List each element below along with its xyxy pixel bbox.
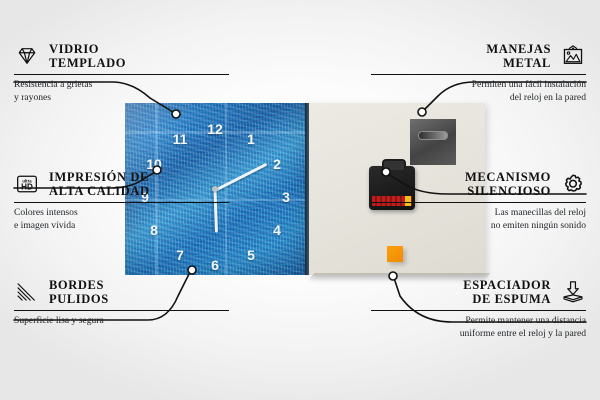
callout-description: Permiten una fácil instalación del reloj… — [371, 75, 586, 105]
callout-header: ultra HD IMPRESIÓN DE ALTA CALIDAD — [14, 170, 229, 202]
callout-title: VIDRIO TEMPLADO — [49, 42, 126, 71]
polished-edges-icon — [14, 279, 40, 305]
callout-description: Las manecillas del reloj no emiten ningú… — [371, 203, 586, 233]
foam-spacer-arrow-icon — [560, 279, 586, 305]
callout-mecanismo-silencioso: MECANISMO SILENCIOSO Las manecillas del … — [371, 170, 586, 233]
foam-spacer-part — [387, 246, 403, 262]
clock-numeral-2: 2 — [273, 157, 281, 171]
callout-title: IMPRESIÓN DE ALTA CALIDAD — [49, 170, 150, 199]
hanger-slot — [418, 131, 448, 140]
callout-title: ESPACIADOR DE ESPUMA — [463, 278, 551, 307]
face-grid-line — [125, 131, 305, 134]
clock-numeral-11: 11 — [173, 132, 188, 146]
callout-header: MANEJAS METAL — [371, 42, 586, 74]
picture-frame-hanger-icon — [560, 43, 586, 69]
mechanism-hook — [382, 159, 406, 170]
callout-title: MECANISMO SILENCIOSO — [465, 170, 551, 199]
metal-hanger-part — [410, 119, 456, 165]
infographic-canvas: 12 1 2 3 4 5 6 7 8 9 10 11 — [0, 0, 600, 400]
callout-header: BORDES PULIDOS — [14, 278, 229, 310]
clock-numeral-3: 3 — [282, 190, 290, 204]
callout-vidrio-templado: VIDRIO TEMPLADO Resistencia a grietas y … — [14, 42, 229, 105]
callout-manejas-metal: MANEJAS METAL Permiten una fácil instala… — [371, 42, 586, 105]
callout-impresion-alta-calidad: ultra HD IMPRESIÓN DE ALTA CALIDAD Color… — [14, 170, 229, 233]
ultra-hd-icon: ultra HD — [14, 171, 40, 197]
diamond-icon — [14, 43, 40, 69]
clock-numeral-1: 1 — [247, 132, 255, 146]
clock-numeral-6: 6 — [211, 258, 219, 272]
callout-header: MECANISMO SILENCIOSO — [371, 170, 586, 202]
callout-description: Superficie lisa y segura — [14, 311, 229, 328]
callout-description: Colores intensos e imagen vívida — [14, 203, 229, 233]
callout-description: Resistencia a grietas y rayones — [14, 75, 229, 105]
clock-numeral-7: 7 — [176, 248, 184, 262]
clock-numeral-12: 12 — [207, 122, 223, 136]
callout-espaciador-espuma: ESPACIADOR DE ESPUMA Permite mantener un… — [371, 278, 586, 341]
callout-header: VIDRIO TEMPLADO — [14, 42, 229, 74]
callout-bordes-pulidos: BORDES PULIDOS Superficie lisa y segura — [14, 278, 229, 328]
gear-icon — [560, 171, 586, 197]
callout-title: MANEJAS METAL — [486, 42, 551, 71]
callout-title: BORDES PULIDOS — [49, 278, 109, 307]
callout-header: ESPACIADOR DE ESPUMA — [371, 278, 586, 310]
ultra-hd-main-text: HD — [21, 183, 33, 192]
callout-description: Permite mantener una distancia uniforme … — [371, 311, 586, 341]
clock-numeral-10: 10 — [146, 157, 162, 171]
clock-numeral-5: 5 — [247, 248, 255, 262]
clock-numeral-4: 4 — [273, 223, 281, 237]
